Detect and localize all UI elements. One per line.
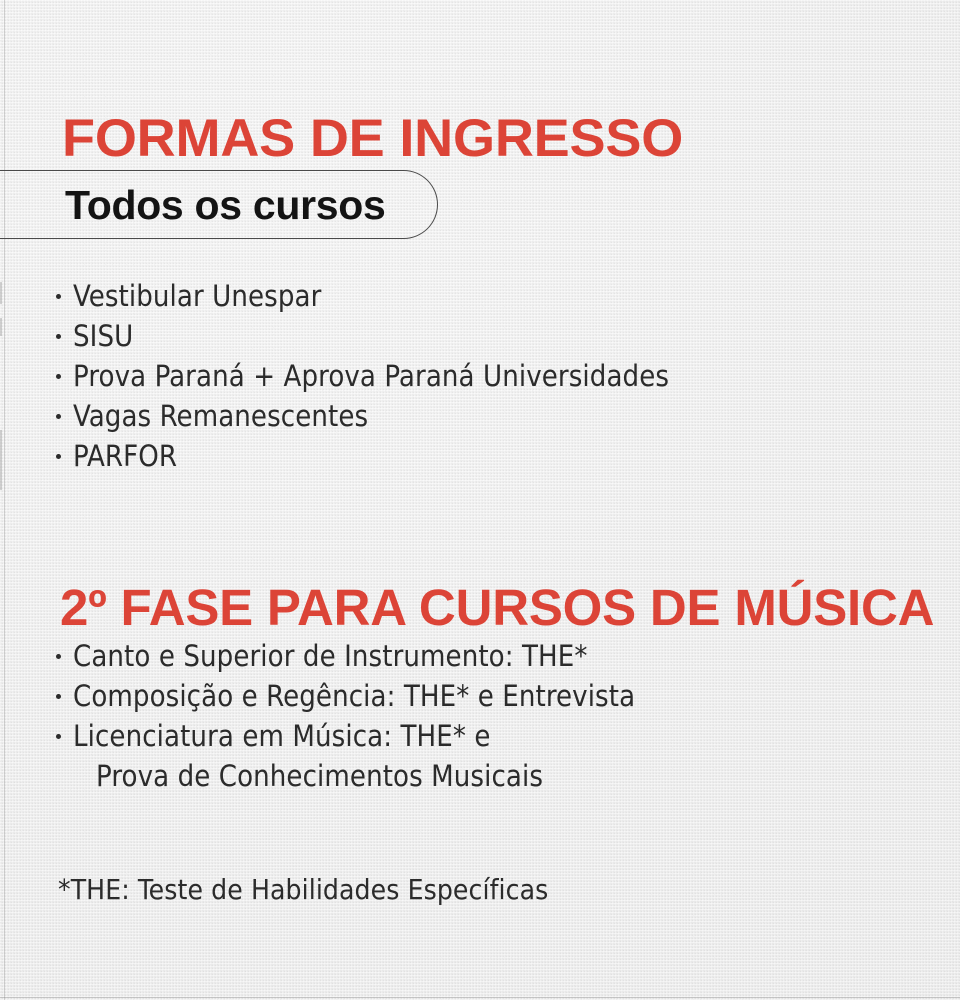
all-courses-badge: Todos os cursos: [0, 170, 438, 239]
all-courses-list: Vestibular UnesparSISUProva Paraná + Apr…: [56, 276, 669, 476]
bullet-dot-icon: [56, 334, 61, 339]
music-courses-list: Canto e Superior de Instrumento: THE*Com…: [56, 636, 635, 796]
bullet-dot-icon: [56, 374, 61, 379]
bullet-dot-icon: [56, 294, 61, 299]
bullet-dot-icon: [56, 654, 61, 659]
list-item-all-courses-label: Vagas Remanescentes: [73, 399, 368, 433]
list-item-all-courses-label: PARFOR: [73, 439, 177, 473]
list-item-music-course: Licenciatura em Música: THE* e: [56, 716, 635, 756]
music-section-title: 2º FASE PARA CURSOS DE MÚSICA: [60, 580, 934, 636]
list-item-music-course: Composição e Regência: THE* e Entrevista: [56, 676, 635, 716]
bullet-dot-icon: [56, 734, 61, 739]
list-item-music-course-label: Licenciatura em Música: THE* e: [73, 719, 491, 753]
all-courses-badge-label: Todos os cursos: [65, 183, 386, 227]
list-item-all-courses-label: Prova Paraná + Aprova Paraná Universidad…: [73, 359, 669, 393]
list-item-all-courses-label: Vestibular Unespar: [73, 279, 321, 313]
poster-canvas: FORMAS DE INGRESSO Todos os cursos Vesti…: [0, 0, 960, 1000]
list-item-all-courses: SISU: [56, 316, 669, 356]
list-item-music-course: Prova de Conhecimentos Musicais: [56, 756, 635, 796]
list-item-music-course-label: Canto e Superior de Instrumento: THE*: [73, 639, 588, 673]
left-edge-mark-1: [0, 282, 2, 304]
page-title: FORMAS DE INGRESSO: [62, 110, 683, 168]
bullet-dot-icon: [56, 414, 61, 419]
left-edge-mark-3: [0, 430, 2, 490]
bullet-dot-icon: [56, 694, 61, 699]
list-item-all-courses: Prova Paraná + Aprova Paraná Universidad…: [56, 356, 669, 396]
list-item-music-course-label: Composição e Regência: THE* e Entrevista: [73, 679, 635, 713]
list-item-all-courses: PARFOR: [56, 436, 669, 476]
list-item-all-courses: Vestibular Unespar: [56, 276, 669, 316]
left-border-line: [4, 0, 5, 1000]
list-item-music-course: Canto e Superior de Instrumento: THE*: [56, 636, 635, 676]
list-item-all-courses-label: SISU: [73, 319, 133, 353]
bottom-border-line: [0, 997, 960, 998]
bullet-dot-icon: [56, 454, 61, 459]
footnote-the: *THE: Teste de Habilidades Específicas: [58, 872, 548, 908]
left-edge-mark-2: [0, 318, 2, 336]
list-item-all-courses: Vagas Remanescentes: [56, 396, 669, 436]
list-item-music-course-label: Prova de Conhecimentos Musicais: [96, 759, 543, 793]
